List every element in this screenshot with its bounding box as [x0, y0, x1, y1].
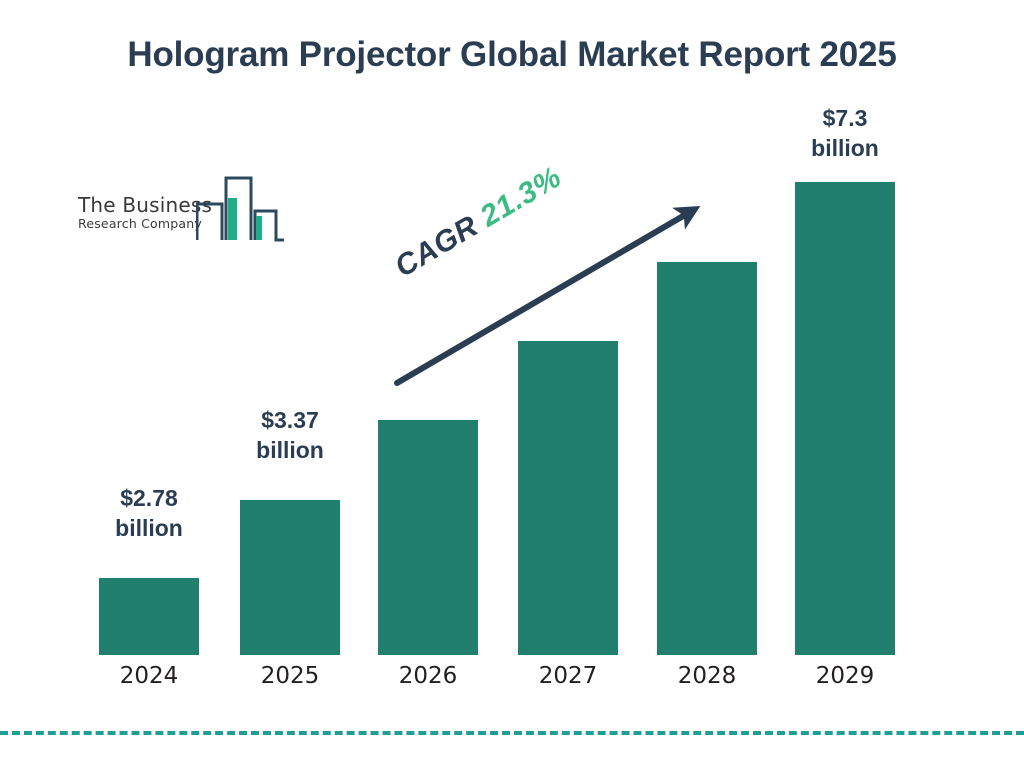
- x-axis-tick-2028: 2028: [637, 662, 777, 690]
- footer-divider: [0, 731, 1024, 735]
- x-axis-tick-2024: 2024: [79, 662, 219, 690]
- bar-2024: [99, 578, 199, 655]
- bar-value-label-2024-amount: $2.78: [79, 483, 219, 513]
- bar-value-label-2025-unit: billion: [220, 435, 360, 465]
- x-axis-tick-2026: 2026: [358, 662, 498, 690]
- bar-value-label-2029: $7.3 billion: [775, 103, 915, 163]
- bar-2026: [378, 420, 478, 655]
- bar-value-label-2024: $2.78 billion: [79, 483, 219, 543]
- bar-2025: [240, 500, 340, 655]
- bar-value-label-2025: $3.37 billion: [220, 405, 360, 465]
- market-report-chart-page: Hologram Projector Global Market Report …: [0, 0, 1024, 768]
- bar-value-label-2029-amount: $7.3: [775, 103, 915, 133]
- x-axis-tick-2029: 2029: [775, 662, 915, 690]
- x-axis-tick-2025: 2025: [220, 662, 360, 690]
- bar-value-label-2029-unit: billion: [775, 133, 915, 163]
- bar-value-label-2024-unit: billion: [79, 513, 219, 543]
- x-axis-tick-2027: 2027: [498, 662, 638, 690]
- bar-2029: [795, 182, 895, 655]
- bar-value-label-2025-amount: $3.37: [220, 405, 360, 435]
- growth-arrow-icon: [380, 190, 720, 405]
